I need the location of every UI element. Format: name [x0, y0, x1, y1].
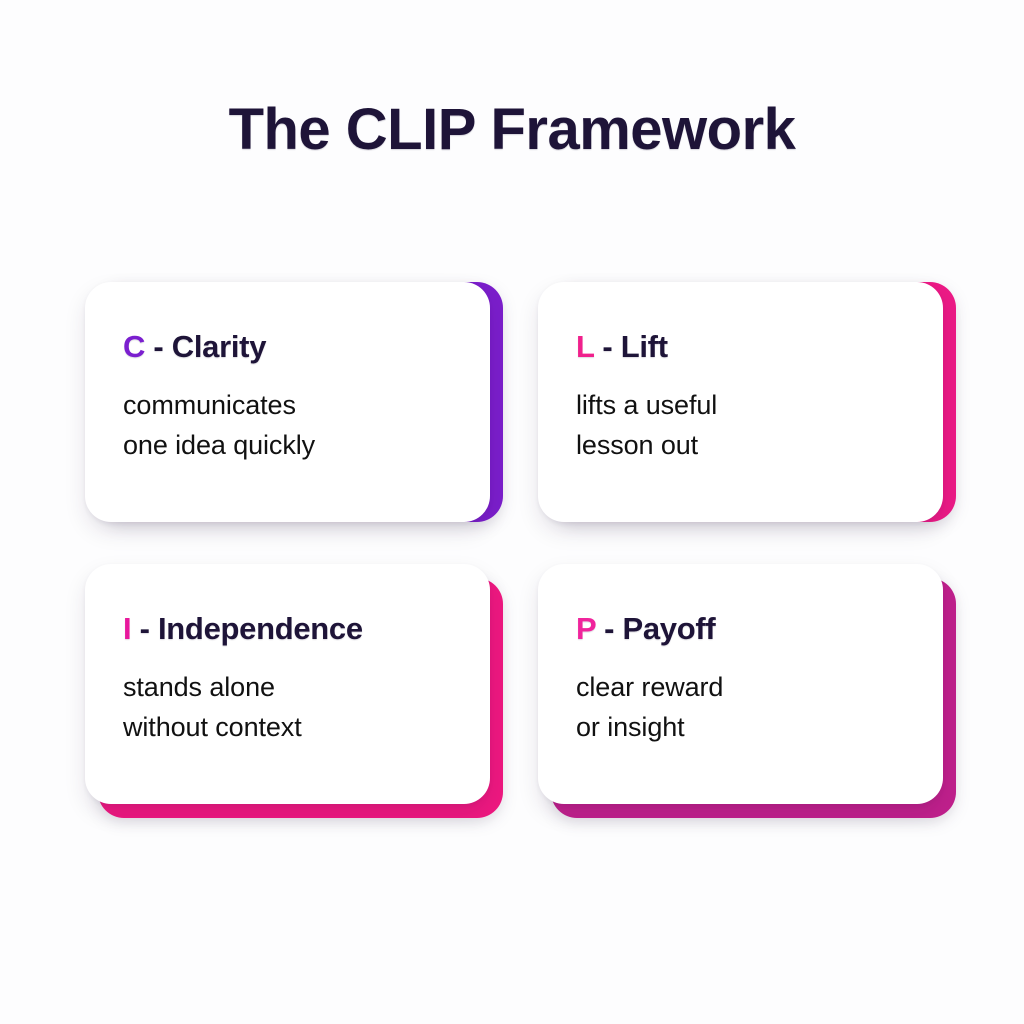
card-heading-lift: L - Lift: [576, 330, 909, 364]
clip-card-lift[interactable]: L - Lift lifts a useful lesson out: [538, 282, 943, 522]
clip-card-grid: C - Clarity communicates one idea quickl…: [85, 282, 943, 804]
card-heading-independence: I - Independence: [123, 612, 456, 646]
card-word-independence: Independence: [158, 611, 363, 646]
card-separator-clarity: -: [145, 329, 172, 364]
card-word-payoff: Payoff: [622, 611, 715, 646]
card-separator-lift: -: [594, 329, 621, 364]
card-separator-independence: -: [131, 611, 158, 646]
card-body-lift: lifts a useful lesson out: [576, 386, 906, 465]
card-surface-clarity[interactable]: C - Clarity communicates one idea quickl…: [85, 282, 490, 522]
card-surface-payoff[interactable]: P - Payoff clear reward or insight: [538, 564, 943, 804]
card-surface-independence[interactable]: I - Independence stands alone without co…: [85, 564, 490, 804]
card-body-line-2: without context: [123, 708, 453, 747]
card-body-line-1: stands alone: [123, 668, 453, 707]
card-body-line-1: communicates: [123, 386, 453, 425]
card-body-line-1: lifts a useful: [576, 386, 906, 425]
card-body-line-2: one idea quickly: [123, 426, 453, 465]
card-body-line-2: lesson out: [576, 426, 906, 465]
card-letter-clarity: C: [123, 329, 145, 364]
card-body-line-1: clear reward: [576, 668, 906, 707]
card-body-line-2: or insight: [576, 708, 906, 747]
card-body-payoff: clear reward or insight: [576, 668, 906, 747]
clip-card-clarity[interactable]: C - Clarity communicates one idea quickl…: [85, 282, 490, 522]
clip-framework-poster: The CLIP Framework C - Clarity communica…: [0, 0, 1024, 1024]
clip-card-independence[interactable]: I - Independence stands alone without co…: [85, 564, 490, 804]
clip-card-payoff[interactable]: P - Payoff clear reward or insight: [538, 564, 943, 804]
card-word-clarity: Clarity: [172, 329, 266, 364]
card-surface-lift[interactable]: L - Lift lifts a useful lesson out: [538, 282, 943, 522]
card-letter-payoff: P: [576, 611, 596, 646]
card-body-clarity: communicates one idea quickly: [123, 386, 453, 465]
card-heading-clarity: C - Clarity: [123, 330, 456, 364]
card-letter-lift: L: [576, 329, 594, 364]
page-title: The CLIP Framework: [0, 100, 1024, 161]
card-body-independence: stands alone without context: [123, 668, 453, 747]
card-heading-payoff: P - Payoff: [576, 612, 909, 646]
card-separator-payoff: -: [596, 611, 623, 646]
card-word-lift: Lift: [621, 329, 668, 364]
